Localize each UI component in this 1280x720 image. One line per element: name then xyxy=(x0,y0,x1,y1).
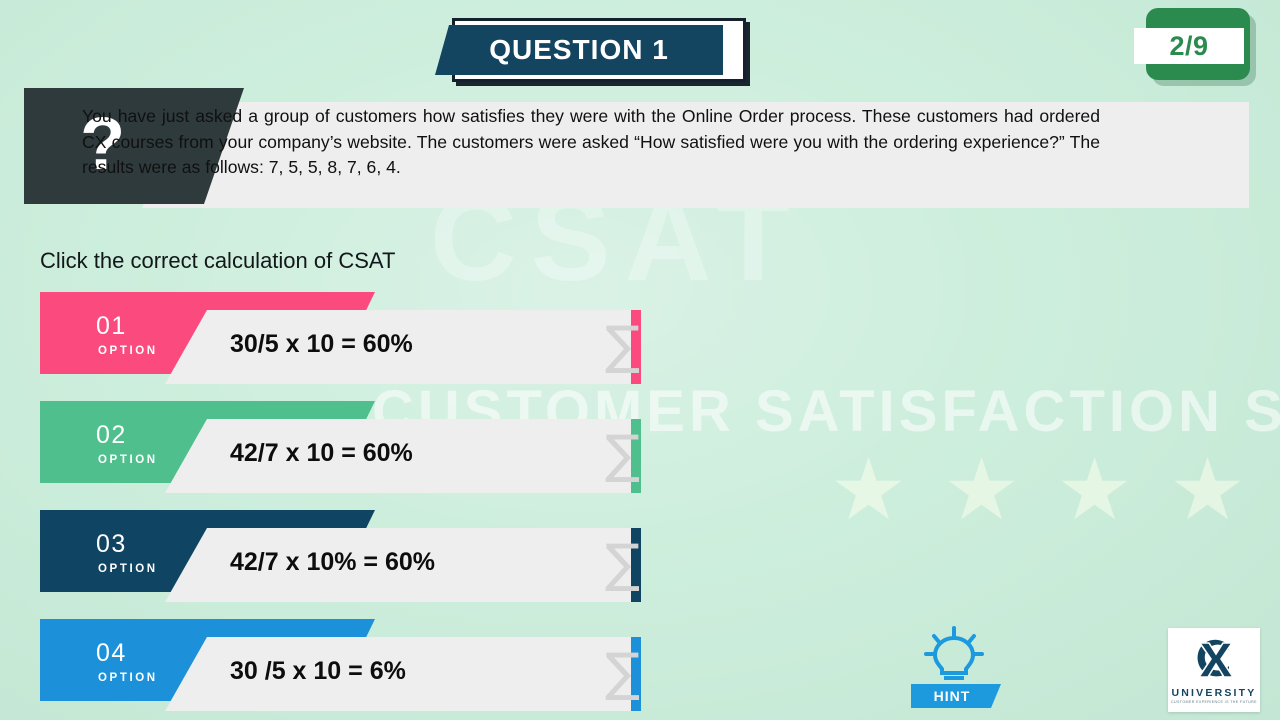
hint-banner[interactable]: HINT xyxy=(911,684,1001,708)
cx-logo-icon xyxy=(1184,637,1244,685)
question-title-banner: QUESTION 1 xyxy=(435,25,723,75)
page-counter-text: 2/9 xyxy=(1169,31,1208,62)
watermark-stars: ★ ★ ★ ★ ★ xyxy=(830,440,1280,540)
option-row-02[interactable]: 02 OPTION ∑ 42/7 x 10 = 60% xyxy=(40,401,640,493)
option-03-text: 42/7 x 10% = 60% xyxy=(230,548,435,577)
option-row-03[interactable]: 03 OPTION ∑ 42/7 x 10% = 60% xyxy=(40,510,640,602)
option-04-sublabel: OPTION xyxy=(98,672,158,684)
question-card: ? You have just asked a group of custome… xyxy=(24,88,1249,208)
sigma-icon: ∑ xyxy=(605,538,640,590)
option-02-text: 42/7 x 10 = 60% xyxy=(230,439,413,468)
sigma-icon: ∑ xyxy=(605,429,640,481)
option-01-sublabel: OPTION xyxy=(98,345,158,357)
logo-name: UNIVERSITY xyxy=(1171,687,1256,699)
option-03-sublabel: OPTION xyxy=(98,563,158,575)
option-03-number: 03 xyxy=(96,530,127,559)
instruction-text: Click the correct calculation of CSAT xyxy=(40,248,395,274)
logo-tagline: CUSTOMER EXPERIENCE IS THE FUTURE xyxy=(1171,700,1257,704)
option-row-01[interactable]: 01 OPTION ∑ 30/5 x 10 = 60% xyxy=(40,292,640,384)
sigma-icon: ∑ xyxy=(605,647,640,699)
option-01-text: 30/5 x 10 = 60% xyxy=(230,330,413,359)
option-04-text: 30 /5 x 10 = 6% xyxy=(230,657,406,686)
lightbulb-icon xyxy=(922,626,986,684)
option-01-number: 01 xyxy=(96,312,127,341)
page-counter-strip: 2/9 xyxy=(1134,28,1244,64)
page-counter-badge: 2/9 xyxy=(1146,8,1256,86)
question-text: You have just asked a group of customers… xyxy=(82,104,1100,181)
option-04-number: 04 xyxy=(96,639,127,668)
hint-label: HINT xyxy=(934,688,979,704)
hint-button[interactable]: HINT xyxy=(908,626,1000,712)
option-02-sublabel: OPTION xyxy=(98,454,158,466)
option-02-number: 02 xyxy=(96,421,127,450)
sigma-icon: ∑ xyxy=(605,320,640,372)
option-row-04[interactable]: 04 OPTION ∑ 30 /5 x 10 = 6% xyxy=(40,619,640,711)
cx-university-logo: UNIVERSITY CUSTOMER EXPERIENCE IS THE FU… xyxy=(1168,628,1260,712)
page-title: QUESTION 1 xyxy=(489,34,669,66)
